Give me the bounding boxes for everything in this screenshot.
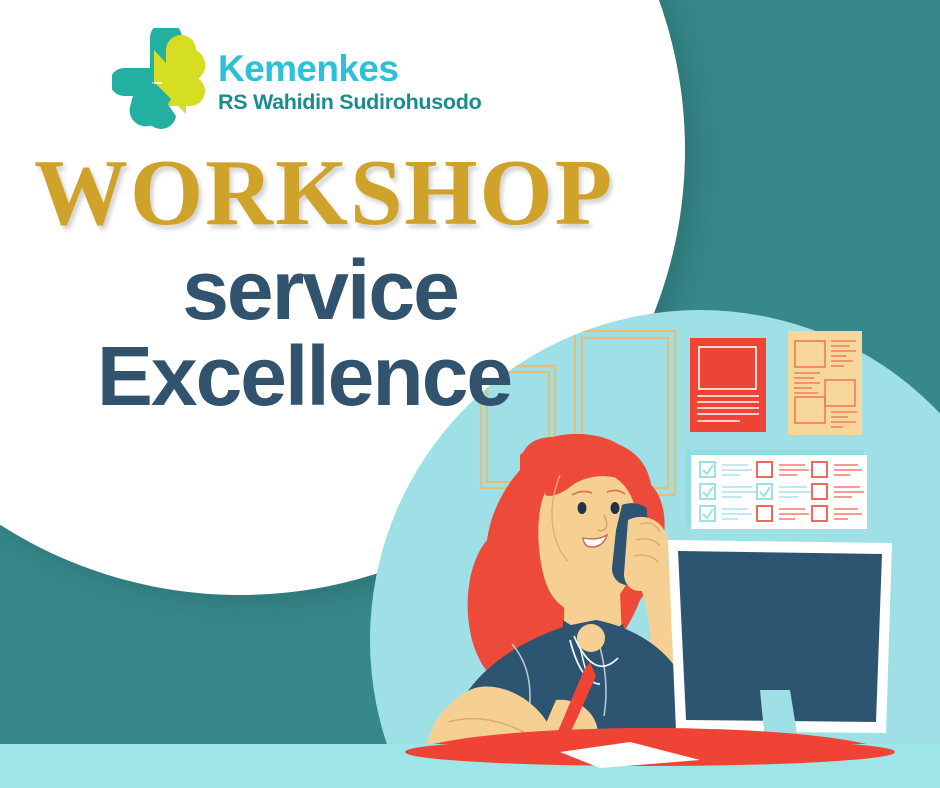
poster-canvas: Kemenkes RS Wahidin Sudirohusodo WORKSHO… (0, 0, 940, 788)
headline-excellence: Excellence (44, 334, 564, 418)
eye-left (578, 502, 587, 514)
headline-service: service (60, 248, 580, 332)
brand-logo: Kemenkes RS Wahidin Sudirohusodo (112, 28, 481, 136)
brand-subtitle: RS Wahidin Sudirohusodo (218, 92, 481, 114)
cream-poster (788, 331, 862, 435)
red-poster (690, 338, 766, 432)
desktop-monitor (668, 540, 892, 758)
brand-title: Kemenkes (218, 50, 481, 87)
eye-right (611, 502, 620, 514)
brand-wordmark: Kemenkes RS Wahidin Sudirohusodo (218, 50, 481, 114)
headline-workshop: WORKSHOP (14, 146, 634, 240)
kemenkes-flower-logo-icon (112, 28, 208, 136)
checklist-board (686, 450, 867, 529)
